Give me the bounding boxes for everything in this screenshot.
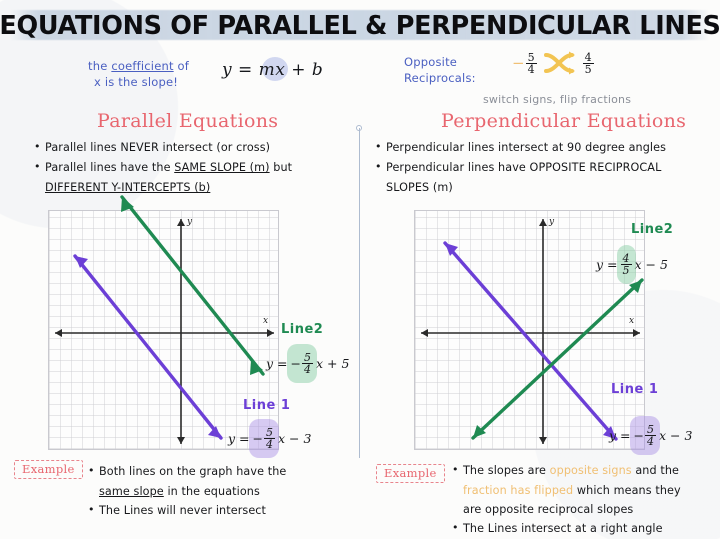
list-item-continuation: same slope in the equations — [88, 482, 348, 501]
left-section-heading: Parallel Equations — [97, 110, 278, 132]
y-axis-label: y — [187, 217, 192, 227]
list-item: Parallel lines NEVER intersect (or cross… — [34, 138, 354, 157]
right-section-heading: Perpendicular Equations — [441, 110, 686, 132]
highlighted-phrase: fraction has flipped — [463, 484, 573, 497]
page-title: EQUATIONS OF PARALLEL & PERPENDICULAR LI… — [0, 6, 720, 46]
left-example-badge: Example — [14, 460, 83, 479]
left-fraction-denominator: 4 — [526, 63, 537, 75]
slope-intercept-formula: y = mx + b — [222, 60, 323, 80]
bullet-text: The Lines intersect at a right angle — [463, 522, 663, 535]
slope-numerator: 5 — [302, 352, 313, 363]
coefficient-note-suffix: of — [174, 59, 189, 73]
bullet-underlined-text: SAME SLOPE (m) — [174, 161, 269, 174]
bullet-text: Perpendicular lines have OPPOSITE RECIPR… — [386, 161, 661, 174]
right-line2-equation: y = 4 5 x − 5 — [596, 253, 668, 276]
perpendicular-lines-graph: y x — [414, 210, 645, 450]
equation-prefix: y = — [609, 428, 631, 443]
slope-sign: − — [634, 428, 644, 443]
slope-numerator: 4 — [621, 253, 632, 264]
list-item: The Lines will never intersect — [88, 501, 348, 520]
right-fraction-numerator: 4 — [583, 52, 594, 63]
slope-numerator: 5 — [645, 424, 656, 435]
switch-signs-note: switch signs, flip fractions — [483, 93, 631, 106]
y-axis-top-arrow — [539, 219, 547, 226]
bullet-text: Parallel lines NEVER intersect (or cross… — [45, 141, 270, 154]
list-item: Perpendicular lines intersect at 90 degr… — [375, 138, 715, 157]
reciprocal-right-fraction: 4 5 — [583, 52, 594, 75]
left-fraction-numerator: 5 — [526, 52, 537, 63]
equation-suffix: x − 5 — [635, 257, 668, 272]
slope-numerator: 5 — [264, 427, 275, 438]
left-bullet-list: Parallel lines NEVER intersect (or cross… — [34, 138, 354, 197]
left-line2-slope-highlight: − 5 4 — [288, 352, 316, 375]
y-axis-label: y — [549, 217, 554, 227]
list-item: The Lines intersect at a right angle — [452, 519, 714, 538]
x-axis-right-arrow — [267, 329, 274, 337]
reciprocal-example: − 5 4 4 5 — [512, 50, 594, 76]
left-line2-label: Line2 — [281, 322, 323, 337]
reciprocals-label: Reciprocals: — [404, 70, 476, 86]
bullet-text-tail: which means they — [573, 484, 681, 497]
purple-line-1 — [445, 243, 616, 439]
bullet-text: Perpendicular lines intersect at 90 degr… — [386, 141, 666, 154]
title-banner: EQUATIONS OF PARALLEL & PERPENDICULAR LI… — [0, 6, 720, 46]
left-example-list: Both lines on the graph have the same sl… — [88, 462, 348, 521]
right-example-list: The slopes are opposite signs and the fr… — [452, 461, 714, 539]
negative-sign: − — [512, 54, 525, 72]
list-item: Both lines on the graph have the — [88, 462, 348, 481]
coefficient-word: coefficient — [111, 59, 173, 73]
highlighted-phrase: opposite signs — [550, 464, 632, 477]
list-item: Parallel lines have the SAME SLOPE (m) b… — [34, 158, 354, 177]
bullet-text: The Lines will never intersect — [99, 504, 266, 517]
slope-sign: − — [253, 431, 263, 446]
equation-suffix: x − 3 — [278, 431, 311, 446]
x-axis-left-arrow — [421, 329, 428, 337]
parallel-lines-graph: y x — [48, 210, 279, 450]
right-bullet-list: Perpendicular lines intersect at 90 degr… — [375, 138, 715, 197]
right-line1-slope-highlight: − 5 4 — [631, 424, 659, 447]
left-line1-equation: y = − 5 4 x − 3 — [228, 427, 311, 450]
right-line2-label: Line2 — [631, 222, 673, 237]
equation-suffix: x + 5 — [316, 356, 349, 371]
left-line1-slope-highlight: − 5 4 — [250, 427, 278, 450]
parallel-graph-svg — [49, 211, 280, 451]
list-item-continuation: are opposite reciprocal slopes — [452, 500, 714, 519]
equation-suffix: x − 3 — [659, 428, 692, 443]
right-example-badge: Example — [376, 464, 445, 483]
right-line2-slope-highlight: 4 5 — [618, 253, 635, 276]
coefficient-note: the coefficient of x is the slope! — [88, 58, 189, 90]
coefficient-note-line2: x is the slope! — [88, 74, 189, 90]
perpendicular-graph-svg — [415, 211, 646, 451]
slope-denominator: 4 — [302, 363, 313, 375]
bullet-underlined-text: same slope — [99, 485, 164, 498]
slope-denominator: 4 — [645, 435, 656, 447]
opposite-label: Opposite — [404, 54, 476, 70]
x-axis-left-arrow — [55, 329, 62, 337]
left-line2-equation: y = − 5 4 x + 5 — [266, 352, 349, 375]
bullet-text-tail: in the equations — [164, 485, 260, 498]
x-axis-right-arrow — [633, 329, 640, 337]
bullet-underlined-text: DIFFERENT Y-INTERCEPTS (b) — [45, 181, 210, 194]
slope-denominator: 4 — [264, 438, 275, 450]
right-line1-label: Line 1 — [611, 382, 658, 397]
slope-sign: − — [291, 356, 301, 371]
opposite-reciprocals-note: Opposite Reciprocals: — [404, 54, 476, 86]
right-line1-equation: y = − 5 4 x − 3 — [609, 424, 692, 447]
bullet-text-tail: but — [270, 161, 293, 174]
swap-arrows-icon — [543, 50, 577, 76]
list-item-continuation: SLOPES (m) — [375, 178, 715, 197]
equation-prefix: y = — [228, 431, 250, 446]
x-axis-label: x — [263, 316, 268, 326]
y-axis-bottom-arrow — [539, 437, 547, 444]
worksheet-page: EQUATIONS OF PARALLEL & PERPENDICULAR LI… — [0, 0, 720, 539]
equation-prefix: y = — [596, 257, 618, 272]
bullet-text: The slopes are — [463, 464, 550, 477]
equation-prefix: y = — [266, 356, 288, 371]
bullet-text: Parallel lines have the — [45, 161, 174, 174]
list-item-continuation: fraction has flipped which means they — [452, 481, 714, 500]
bullet-text: SLOPES (m) — [386, 181, 453, 194]
bullet-text-tail: and the — [632, 464, 679, 477]
right-fraction-denominator: 5 — [583, 63, 594, 75]
slope-denominator: 5 — [621, 264, 632, 276]
y-axis-top-arrow — [177, 219, 185, 226]
purple-line-1 — [75, 256, 221, 438]
coefficient-note-prefix: the — [88, 59, 111, 73]
y-axis-bottom-arrow — [177, 437, 185, 444]
bullet-text: Both lines on the graph have the — [99, 465, 286, 478]
left-line1-label: Line 1 — [243, 398, 290, 413]
vertical-divider — [359, 128, 360, 458]
list-item: Perpendicular lines have OPPOSITE RECIPR… — [375, 158, 715, 177]
x-axis-label: x — [629, 316, 634, 326]
reciprocal-left-fraction: − 5 4 — [512, 52, 537, 75]
bullet-text: are opposite reciprocal slopes — [463, 503, 633, 516]
list-item-continuation: DIFFERENT Y-INTERCEPTS (b) — [34, 178, 354, 197]
list-item: The slopes are opposite signs and the — [452, 461, 714, 480]
